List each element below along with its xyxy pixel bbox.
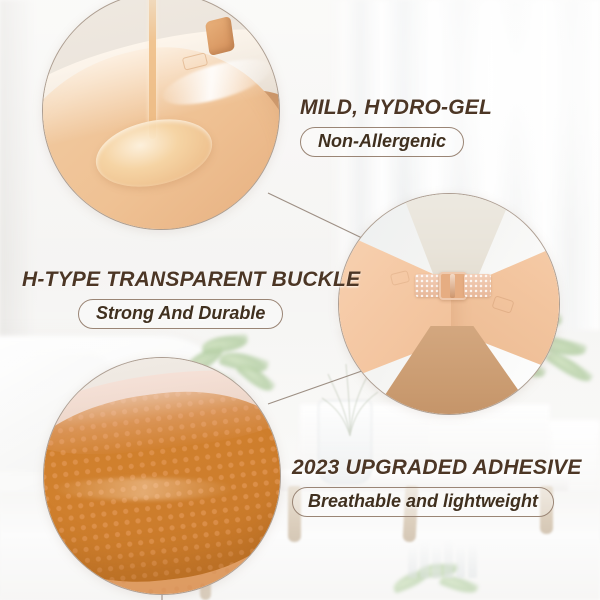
gel-pouring-on-cup-photo — [42, 0, 280, 230]
feature-badge: Strong And Durable — [78, 299, 283, 329]
feature-headline: H-TYPE TRANSPARENT BUCKLE — [22, 268, 360, 292]
adhesive-dot-texture-photo — [43, 357, 281, 595]
feature-headline: 2023 UPGRADED ADHESIVE — [292, 456, 582, 480]
cup-clip — [205, 16, 235, 56]
feature-text-hydro-gel: MILD, HYDRO-GEL Non-Allergenic — [300, 96, 492, 157]
h-type-buckle — [415, 272, 491, 300]
buckle-tape-left — [415, 274, 442, 297]
adhesive-highlight — [54, 478, 234, 500]
feature-badge: Breathable and lightweight — [292, 487, 554, 517]
h-type-buckle-photo — [338, 193, 560, 415]
buckle-clasp — [439, 272, 467, 300]
feature-badge: Non-Allergenic — [300, 127, 464, 157]
feature-text-adhesive: 2023 UPGRADED ADHESIVE Breathable and li… — [292, 456, 582, 517]
feature-text-buckle: H-TYPE TRANSPARENT BUCKLE Strong And Dur… — [22, 268, 360, 329]
feature-headline: MILD, HYDRO-GEL — [300, 96, 492, 120]
product-feature-infographic: MILD, HYDRO-GEL Non-Allergenic H-TYPE TR… — [0, 0, 600, 600]
gel-stream — [149, 0, 156, 139]
buckle-tape-right — [464, 274, 491, 297]
